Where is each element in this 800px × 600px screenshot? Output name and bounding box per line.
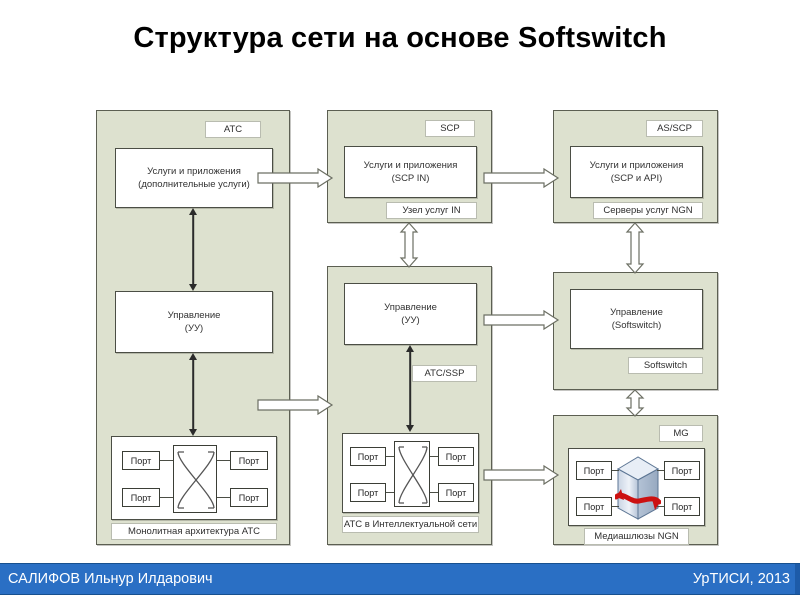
box-atc-services-line2: (дополнительные услуги) (138, 179, 250, 190)
connector-scp-to-ssp-arrow (399, 222, 419, 268)
connector-asscp-to-softswitch-arrow (625, 222, 645, 274)
box-asscp-services[interactable]: Услуги и приложения (SCP и API) (570, 146, 703, 198)
box-sw-control-line2: (Softswitch) (612, 320, 662, 331)
box-scp-services-line1: Услуги и приложения (364, 160, 458, 171)
box-atc-control[interactable]: Управление (УУ) (115, 291, 273, 353)
port[interactable]: Порт (438, 483, 474, 502)
box-atc-control-line2: (УУ) (185, 323, 203, 334)
port[interactable]: Порт (350, 447, 386, 466)
port[interactable]: Порт (230, 488, 268, 507)
panel-as-scp[interactable]: AS/SCP Услуги и приложения (SCP и API) С… (553, 110, 718, 223)
panel-mg-caption: Медиашлюзы NGN (584, 528, 689, 545)
box-ssp-control[interactable]: Управление (УУ) (344, 283, 477, 345)
port[interactable]: Порт (230, 451, 268, 470)
panel-as-scp-caption: Серверы услуг NGN (593, 202, 703, 219)
connector-atc-services-control (186, 208, 200, 291)
panel-softswitch-tag: Softswitch (628, 357, 703, 374)
connector-ssp-control-ports (403, 345, 417, 432)
panel-scp-tag: SCP (425, 120, 475, 137)
connector-softswitch-to-mg-arrow (625, 389, 645, 417)
box-asscp-services-line2: (SCP и API) (611, 173, 663, 184)
box-atc-services[interactable]: Услуги и приложения (дополнительные услу… (115, 148, 273, 208)
box-asscp-services-line1: Услуги и приложения (590, 160, 684, 171)
port[interactable]: Порт (664, 497, 700, 516)
panel-atc-tag: АТС (205, 121, 261, 138)
port[interactable]: Порт (438, 447, 474, 466)
port[interactable]: Порт (664, 461, 700, 480)
footer-org-year: УрТИСИ, 2013 (693, 571, 790, 587)
box-scp-services[interactable]: Услуги и приложения (SCP IN) (344, 146, 477, 198)
box-ssp-control-line1: Управление (384, 302, 437, 313)
panel-mg[interactable]: MG (553, 415, 718, 545)
switch-fabric-icon (173, 445, 217, 513)
port[interactable]: Порт (350, 483, 386, 502)
footer-author: САЛИФОВ Ильнур Илдарович (8, 571, 213, 587)
connector-atc-to-scp-arrow (258, 168, 334, 188)
media-gateway-cube-icon (615, 453, 661, 523)
box-sw-control-line1: Управление (610, 307, 663, 318)
box-atc-services-line1: Услуги и приложения (147, 166, 241, 177)
connector-scp-to-asscp-arrow (484, 168, 560, 188)
connector-atc-control-ports (186, 353, 200, 436)
panel-as-scp-tag: AS/SCP (646, 120, 703, 137)
panel-scp-caption: Узел услуг IN (386, 202, 477, 219)
port[interactable]: Порт (576, 497, 612, 516)
box-atc-control-line1: Управление (168, 310, 221, 321)
footer-end-cap (795, 564, 800, 594)
connector-atc-to-ssp-arrow (258, 395, 334, 415)
box-scp-services-line2: (SCP IN) (392, 173, 430, 184)
panel-mg-tag: MG (659, 425, 703, 442)
panel-atc-ssp-tag: АТС/SSP (412, 365, 477, 382)
panel-atc-caption: Монолитная архитектура АТС (111, 523, 277, 540)
footer-bar: САЛИФОВ Ильнур Илдарович УрТИСИ, 2013 (0, 563, 800, 595)
port[interactable]: Порт (122, 488, 160, 507)
panel-softswitch[interactable]: Управление (Softswitch) Softswitch (553, 272, 718, 390)
connector-ssp-ports-to-mg-arrow (484, 465, 560, 485)
panel-scp[interactable]: SCP Услуги и приложения (SCP IN) Узел ус… (327, 110, 492, 223)
atc-port-matrix[interactable]: Порт Порт Порт Порт (111, 436, 277, 520)
port[interactable]: Порт (576, 461, 612, 480)
ssp-port-matrix[interactable]: Порт Порт Порт Порт (342, 433, 479, 513)
panel-atc-ssp[interactable]: Управление (УУ) АТС/SSP Порт Порт Порт (327, 266, 492, 545)
port[interactable]: Порт (122, 451, 160, 470)
mg-port-matrix[interactable]: Порт Порт Порт Порт (568, 448, 705, 526)
box-ssp-control-line2: (УУ) (401, 315, 419, 326)
box-sw-control[interactable]: Управление (Softswitch) (570, 289, 703, 349)
switch-fabric-icon (394, 441, 430, 507)
connector-ssp-to-softswitch-arrow (484, 310, 560, 330)
panel-atc-ssp-caption: АТС в Интеллектуальной сети (342, 516, 479, 533)
network-architecture-diagram: АТС Услуги и приложения (дополнительные … (0, 0, 800, 560)
